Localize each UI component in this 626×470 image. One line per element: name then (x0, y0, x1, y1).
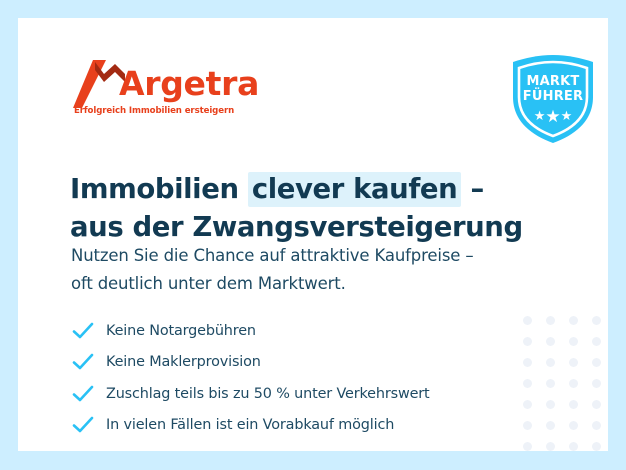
dot (592, 421, 601, 430)
dot (592, 358, 601, 367)
list-item-label: In vielen Fällen ist ein Vorabkauf mögli… (106, 417, 394, 433)
list-item-label: Keine Maklerprovision (106, 354, 261, 370)
logo-tagline: Erfolgreich Immobilien ersteigern (74, 106, 234, 116)
headline-line-2: aus der Zwangsversteigerung (70, 208, 590, 246)
list-item: Keine Notargebühren (72, 315, 572, 347)
subtitle: Nutzen Sie die Chance auf attraktive Kau… (71, 242, 591, 298)
dot (569, 442, 578, 451)
dot (592, 400, 601, 409)
check-icon (72, 385, 94, 403)
list-item-label: Keine Notargebühren (106, 323, 256, 339)
star-icon-left: ★ (534, 108, 546, 123)
badge-line-1: MARKT (507, 75, 599, 90)
benefits-list: Keine Notargebühren Keine Maklerprovisio… (72, 315, 572, 441)
logo-wordmark: Argetra (119, 64, 259, 104)
market-leader-badge: MARKT FÜHRER ★★★ (507, 53, 599, 145)
badge-stars: ★★★ (507, 109, 599, 123)
headline-highlight: clever kaufen (248, 172, 462, 207)
check-icon (72, 416, 94, 434)
badge-line-2: FÜHRER (507, 90, 599, 105)
dot (592, 316, 601, 325)
poster-frame: Argetra Erfolgreich Immobilien ersteiger… (0, 0, 626, 470)
headline-lead: Immobilien (70, 173, 248, 205)
poster-card: Argetra Erfolgreich Immobilien ersteiger… (18, 18, 608, 451)
headline-line-1: Immobilien clever kaufen – (70, 170, 590, 208)
dot (592, 337, 601, 346)
dot (546, 442, 555, 451)
logo-row: Argetra (73, 58, 273, 108)
check-icon (72, 353, 94, 371)
dot (592, 379, 601, 388)
subtitle-line-1: Nutzen Sie die Chance auf attraktive Kau… (71, 242, 591, 270)
dot (592, 442, 601, 451)
list-item-label: Zuschlag teils bis zu 50 % unter Verkehr… (106, 386, 430, 402)
badge-text: MARKT FÜHRER (507, 75, 599, 104)
page-title: Immobilien clever kaufen – aus der Zwang… (70, 170, 590, 246)
list-item: Keine Maklerprovision (72, 347, 572, 379)
star-icon-center: ★ (545, 107, 560, 126)
subtitle-line-2: oft deutlich unter dem Marktwert. (71, 270, 591, 298)
check-icon (72, 322, 94, 340)
dot (523, 442, 532, 451)
star-icon-right: ★ (561, 108, 573, 123)
headline-dash: – (461, 173, 484, 205)
argetra-logo[interactable]: Argetra Erfolgreich Immobilien ersteiger… (73, 58, 273, 126)
list-item: In vielen Fällen ist ein Vorabkauf mögli… (72, 410, 572, 442)
list-item: Zuschlag teils bis zu 50 % unter Verkehr… (72, 378, 572, 410)
